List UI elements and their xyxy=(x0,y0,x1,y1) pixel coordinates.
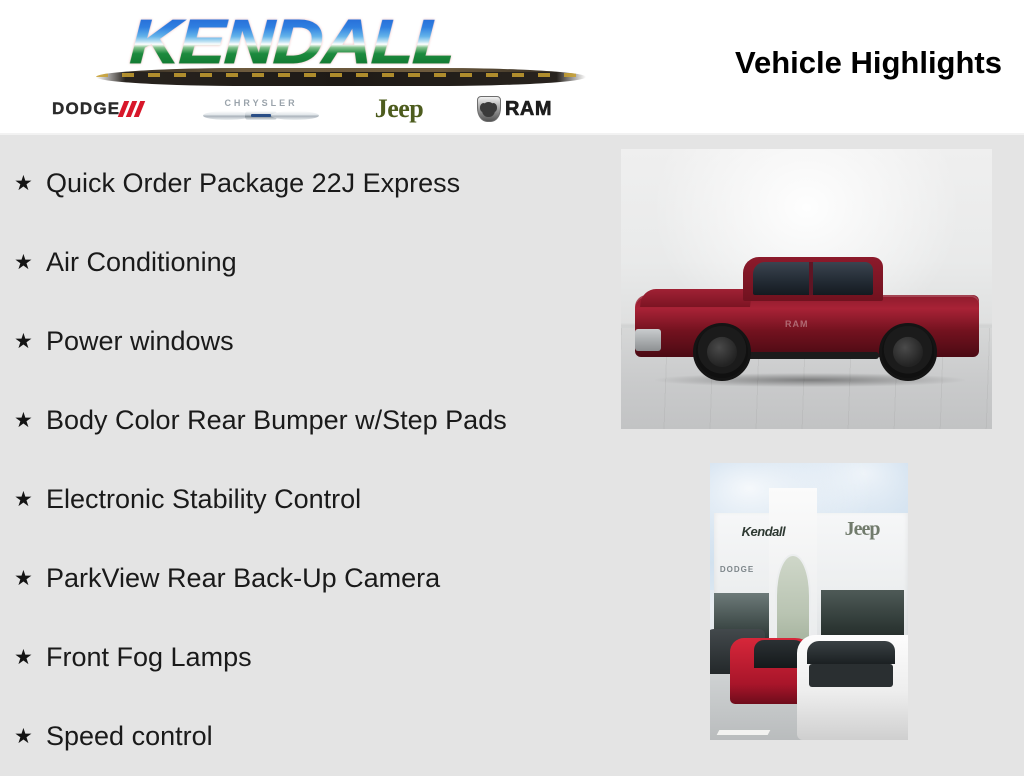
list-item-label: Quick Order Package 22J Express xyxy=(46,168,460,199)
dodge-logo: DODGE xyxy=(52,94,147,124)
vehicle-highlights-list: ★ Quick Order Package 22J Express ★ Air … xyxy=(0,144,600,776)
list-item-label: Electronic Stability Control xyxy=(46,484,361,515)
truck-hood xyxy=(640,289,752,307)
star-bullet-icon: ★ xyxy=(14,568,46,589)
star-bullet-icon: ★ xyxy=(14,647,46,668)
list-item-label: Speed control xyxy=(46,721,213,752)
list-item: ★ Power windows xyxy=(0,302,600,381)
lot-car-white xyxy=(797,635,908,740)
kendall-sign: Kendall xyxy=(742,524,785,539)
list-item-label: Body Color Rear Bumper w/Step Pads xyxy=(46,405,507,436)
list-item-label: Front Fog Lamps xyxy=(46,642,252,673)
truck-bumper xyxy=(635,329,661,351)
vehicle-highlights-slide: KENDALL DODGE CHRYSLER Jeep xyxy=(0,0,1024,768)
list-item: ★ Quick Order Package 22J Express xyxy=(0,144,600,223)
list-item: ★ ParkView Rear Back-Up Camera xyxy=(0,539,600,618)
truck-windows xyxy=(753,262,873,295)
dodge-logo-label: DODGE xyxy=(52,99,120,119)
ram-head-icon xyxy=(477,96,501,122)
star-bullet-icon: ★ xyxy=(14,410,46,431)
jeep-logo: Jeep xyxy=(375,94,424,124)
truck-illustration: RAM xyxy=(635,231,979,381)
truck-front-wheel xyxy=(693,323,751,381)
slide-header: KENDALL DODGE CHRYSLER Jeep xyxy=(0,0,1024,135)
page-title: Vehicle Highlights xyxy=(582,45,1002,81)
header-divider xyxy=(0,133,1024,135)
vehicle-photo: RAM xyxy=(621,149,992,429)
list-item-label: Power windows xyxy=(46,326,234,357)
ram-logo: RAM xyxy=(477,94,552,124)
list-item-label: ParkView Rear Back-Up Camera xyxy=(46,563,440,594)
list-item: ★ Electronic Stability Control xyxy=(0,460,600,539)
star-bullet-icon: ★ xyxy=(14,489,46,510)
kendall-logo-text: KENDALL xyxy=(67,10,518,76)
chrysler-logo: CHRYSLER xyxy=(201,94,321,124)
list-item: ★ Front Fog Lamps xyxy=(0,618,600,697)
dealership-photo: Kendall Jeep DODGE xyxy=(710,463,908,740)
chrysler-logo-label: CHRYSLER xyxy=(224,98,297,108)
list-item: ★ Body Color Rear Bumper w/Step Pads xyxy=(0,381,600,460)
dodge-sign: DODGE xyxy=(720,565,754,574)
dealer-logo: KENDALL DODGE CHRYSLER Jeep xyxy=(42,8,532,128)
dodge-slashes-icon xyxy=(121,101,147,117)
truck-badge: RAM xyxy=(785,319,809,329)
truck-running-board xyxy=(731,352,879,359)
star-bullet-icon: ★ xyxy=(14,331,46,352)
star-bullet-icon: ★ xyxy=(14,726,46,747)
chrysler-wings-icon xyxy=(203,109,319,121)
kendall-wordmark: KENDALL xyxy=(92,10,492,84)
ram-logo-label: RAM xyxy=(505,98,552,121)
brand-logo-row: DODGE CHRYSLER Jeep RAM xyxy=(52,92,552,126)
list-item: ★ Speed control xyxy=(0,697,600,776)
star-bullet-icon: ★ xyxy=(14,252,46,273)
list-item: ★ Air Conditioning xyxy=(0,223,600,302)
star-bullet-icon: ★ xyxy=(14,173,46,194)
truck-rear-wheel xyxy=(879,323,937,381)
jeep-sign: Jeep xyxy=(845,518,880,541)
kendall-road-graphic xyxy=(96,68,586,86)
jeep-logo-label: Jeep xyxy=(375,96,424,122)
list-item-label: Air Conditioning xyxy=(46,247,237,278)
